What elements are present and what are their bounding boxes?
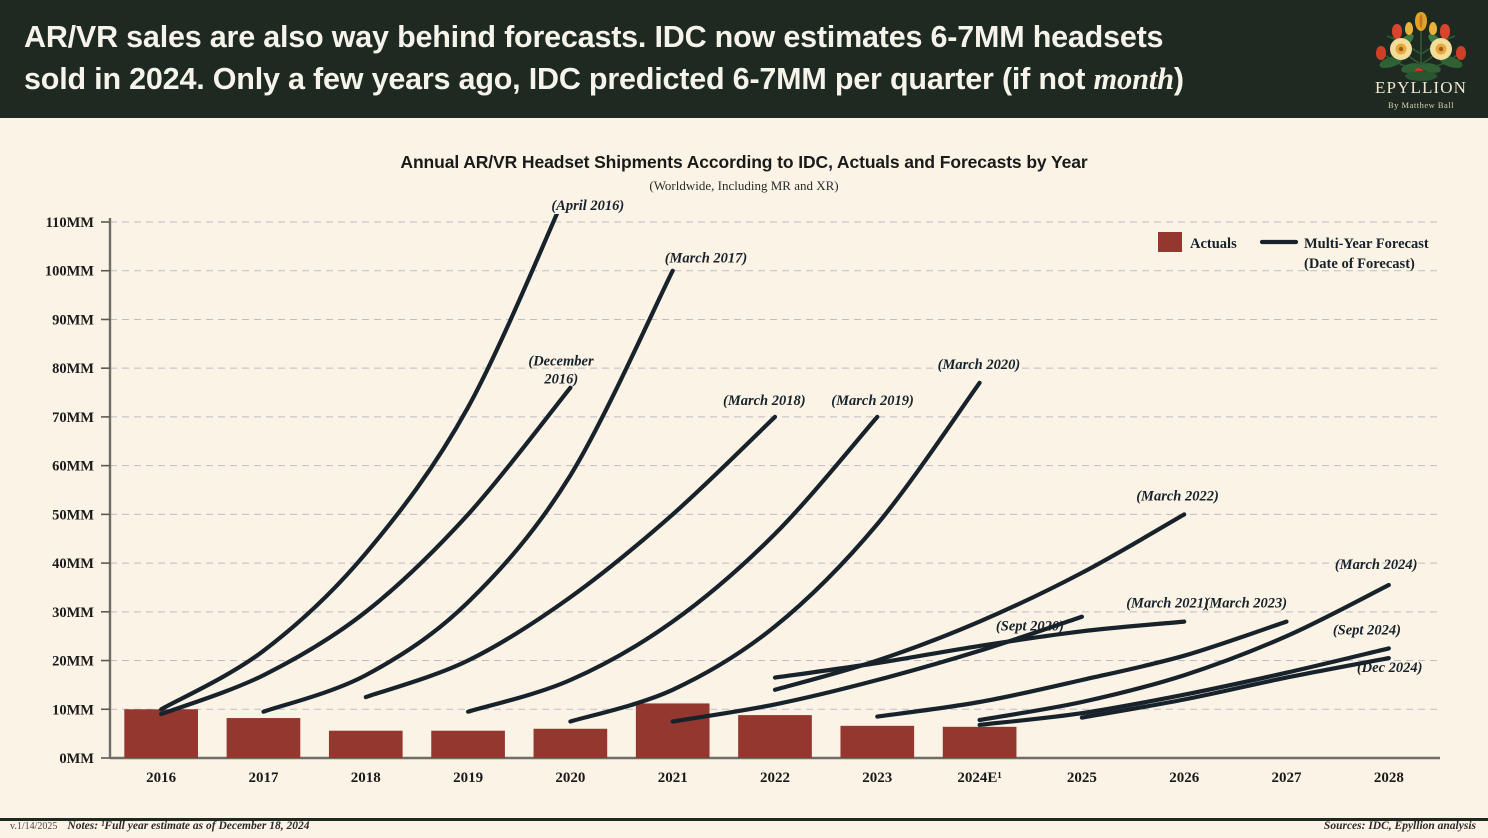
forecast-date-label: (April 2016) — [551, 198, 624, 214]
y-axis-tick-label: 40MM — [52, 556, 94, 572]
y-axis-tick-label: 10MM — [52, 702, 94, 718]
bar-actuals — [329, 731, 403, 758]
forecast-lines — [161, 183, 1389, 725]
x-axis-tick-label: 2024E¹ — [957, 770, 1002, 786]
footer-sources: Sources: IDC, Epyllion analysis — [1324, 820, 1476, 832]
forecast-date-label: (Sept 2020) — [996, 619, 1064, 635]
x-axis-tick-label: 2026 — [1169, 770, 1200, 786]
forecast-line — [775, 514, 1184, 689]
forecast-date-label: 2016) — [543, 372, 578, 388]
x-axis-tick-label: 2028 — [1374, 770, 1404, 786]
x-axis-tick-label: 2027 — [1272, 770, 1303, 786]
bar-actuals — [738, 715, 812, 758]
legend-label-actuals: Actuals — [1190, 236, 1237, 252]
x-axis-tick-label: 2016 — [146, 770, 177, 786]
x-axis-tick-label: 2023 — [862, 770, 892, 786]
forecast-date-label: (March 2017) — [665, 251, 748, 267]
legend-swatch-actuals — [1158, 232, 1182, 252]
forecast-line — [264, 271, 673, 712]
x-axis-tick-label: 2019 — [453, 770, 483, 786]
forecast-line — [1082, 658, 1389, 718]
bar-actuals — [636, 703, 710, 758]
legend-sublabel-forecast: (Date of Forecast) — [1304, 256, 1415, 272]
forecast-date-label: (March 2022) — [1136, 488, 1219, 504]
x-axis-tick-label: 2017 — [248, 770, 279, 786]
chart-plot-area: 0MM10MM20MM30MM40MM50MM60MM70MM80MM90MM1… — [0, 0, 1488, 838]
x-axis-ticks: 201620172018201920202021202220232024E¹20… — [146, 770, 1404, 786]
y-axis-tick-label: 70MM — [52, 410, 94, 426]
forecast-date-label: (March 2023) — [1205, 596, 1288, 612]
forecast-date-label: (March 2018) — [723, 393, 806, 409]
forecast-line — [980, 648, 1389, 725]
y-axis-tick-label: 0MM — [59, 751, 94, 767]
forecast-line — [468, 417, 877, 712]
forecast-date-label: (March 2020) — [938, 357, 1021, 373]
bar-actuals — [124, 709, 198, 758]
y-axis-tick-label: 50MM — [52, 507, 94, 523]
y-axis-ticks: 0MM10MM20MM30MM40MM50MM60MM70MM80MM90MM1… — [45, 215, 110, 767]
y-axis-tick-label: 100MM — [45, 264, 94, 280]
bar-actuals — [943, 727, 1017, 758]
x-axis-tick-label: 2018 — [351, 770, 381, 786]
forecast-date-label: (March 2024) — [1335, 557, 1418, 573]
bar-actuals — [534, 729, 608, 758]
forecast-date-label: (Sept 2024) — [1333, 622, 1401, 638]
version-stamp: v.1/14/2025 — [10, 821, 57, 832]
x-axis-tick-label: 2025 — [1067, 770, 1097, 786]
footer-left: v.1/14/2025Notes: ¹Full year estimate as… — [10, 820, 309, 832]
legend-label-forecast: Multi-Year Forecast — [1304, 236, 1429, 252]
y-axis-tick-label: 20MM — [52, 654, 94, 670]
forecast-line — [161, 183, 570, 709]
bars-series-actuals — [124, 703, 1016, 758]
x-axis-tick-label: 2022 — [760, 770, 790, 786]
bar-actuals — [227, 718, 301, 758]
forecast-date-label: (March 2021) — [1126, 596, 1209, 612]
forecast-date-label: (December — [528, 354, 594, 370]
y-axis-tick-label: 60MM — [52, 459, 94, 475]
x-axis-tick-label: 2021 — [658, 770, 688, 786]
y-axis-tick-label: 110MM — [46, 215, 95, 231]
chart-svg: 0MM10MM20MM30MM40MM50MM60MM70MM80MM90MM1… — [0, 0, 1488, 800]
y-axis-tick-label: 90MM — [52, 312, 94, 328]
y-axis-tick-label: 30MM — [52, 605, 94, 621]
bar-actuals — [431, 731, 505, 758]
bar-actuals — [840, 726, 914, 758]
chart-legend: ActualsMulti-Year Forecast(Date of Forec… — [1158, 232, 1429, 272]
footnote-text: Notes: ¹Full year estimate as of Decembe… — [57, 820, 309, 832]
forecast-date-label: (March 2019) — [831, 393, 914, 409]
forecast-labels: (April 2016)(December2016)(March 2017)(M… — [528, 198, 1422, 676]
x-axis-tick-label: 2020 — [555, 770, 585, 786]
slide-root: AR/VR sales are also way behind forecast… — [0, 0, 1488, 838]
forecast-date-label: (Dec 2024) — [1357, 660, 1423, 676]
y-axis-tick-label: 80MM — [52, 361, 94, 377]
